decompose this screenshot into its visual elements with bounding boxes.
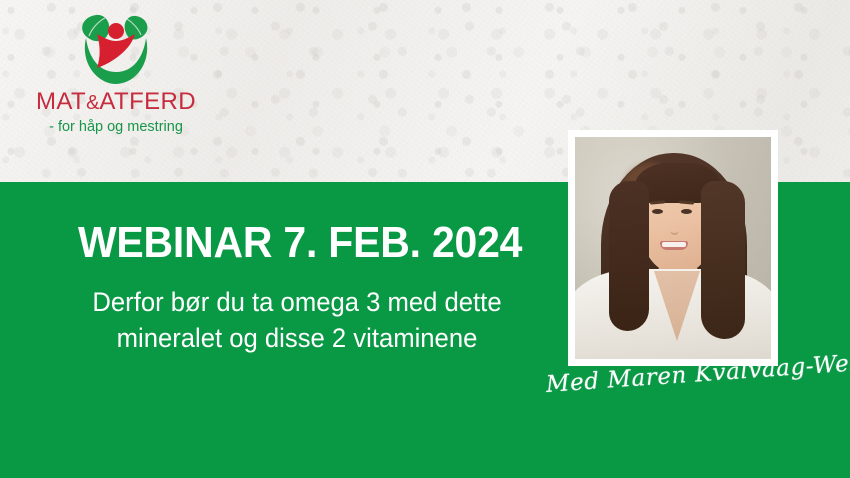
- webinar-headline: WEBINAR 7. FEB. 2024: [78, 221, 522, 266]
- brand-tagline: - for håp og mestring: [16, 120, 216, 135]
- wordmark-mat: MAT: [36, 88, 86, 115]
- subtitle-line-1: Derfor bør du ta omega 3 med dette: [74, 285, 521, 321]
- portrait-mouth: [660, 241, 688, 250]
- portrait-hair-strand-right: [701, 181, 745, 339]
- webinar-promo-banner: MAT&ATFERD - for håp og mestring WEBINAR…: [0, 0, 850, 478]
- portrait-eye-right: [681, 209, 692, 214]
- webinar-subtitle: Derfor bør du ta omega 3 med dette miner…: [62, 285, 532, 357]
- brand-logo[interactable]: MAT&ATFERD - for håp og mestring: [16, 8, 216, 135]
- leaf-circle-person-logo-icon: [70, 8, 162, 88]
- wordmark-atferd: ATFERD: [99, 88, 196, 115]
- presenter-portrait-photo: [575, 137, 771, 359]
- wordmark-ampersand: &: [86, 92, 99, 114]
- portrait-nose: [670, 221, 679, 235]
- portrait-teeth: [662, 242, 686, 247]
- subtitle-line-2: mineralet og disse 2 vitaminene: [74, 321, 521, 357]
- portrait-eye-left: [652, 209, 663, 214]
- portrait-hair-strand-left: [609, 181, 649, 331]
- presenter-photo-frame: [568, 130, 778, 366]
- brand-wordmark: MAT&ATFERD: [16, 90, 216, 114]
